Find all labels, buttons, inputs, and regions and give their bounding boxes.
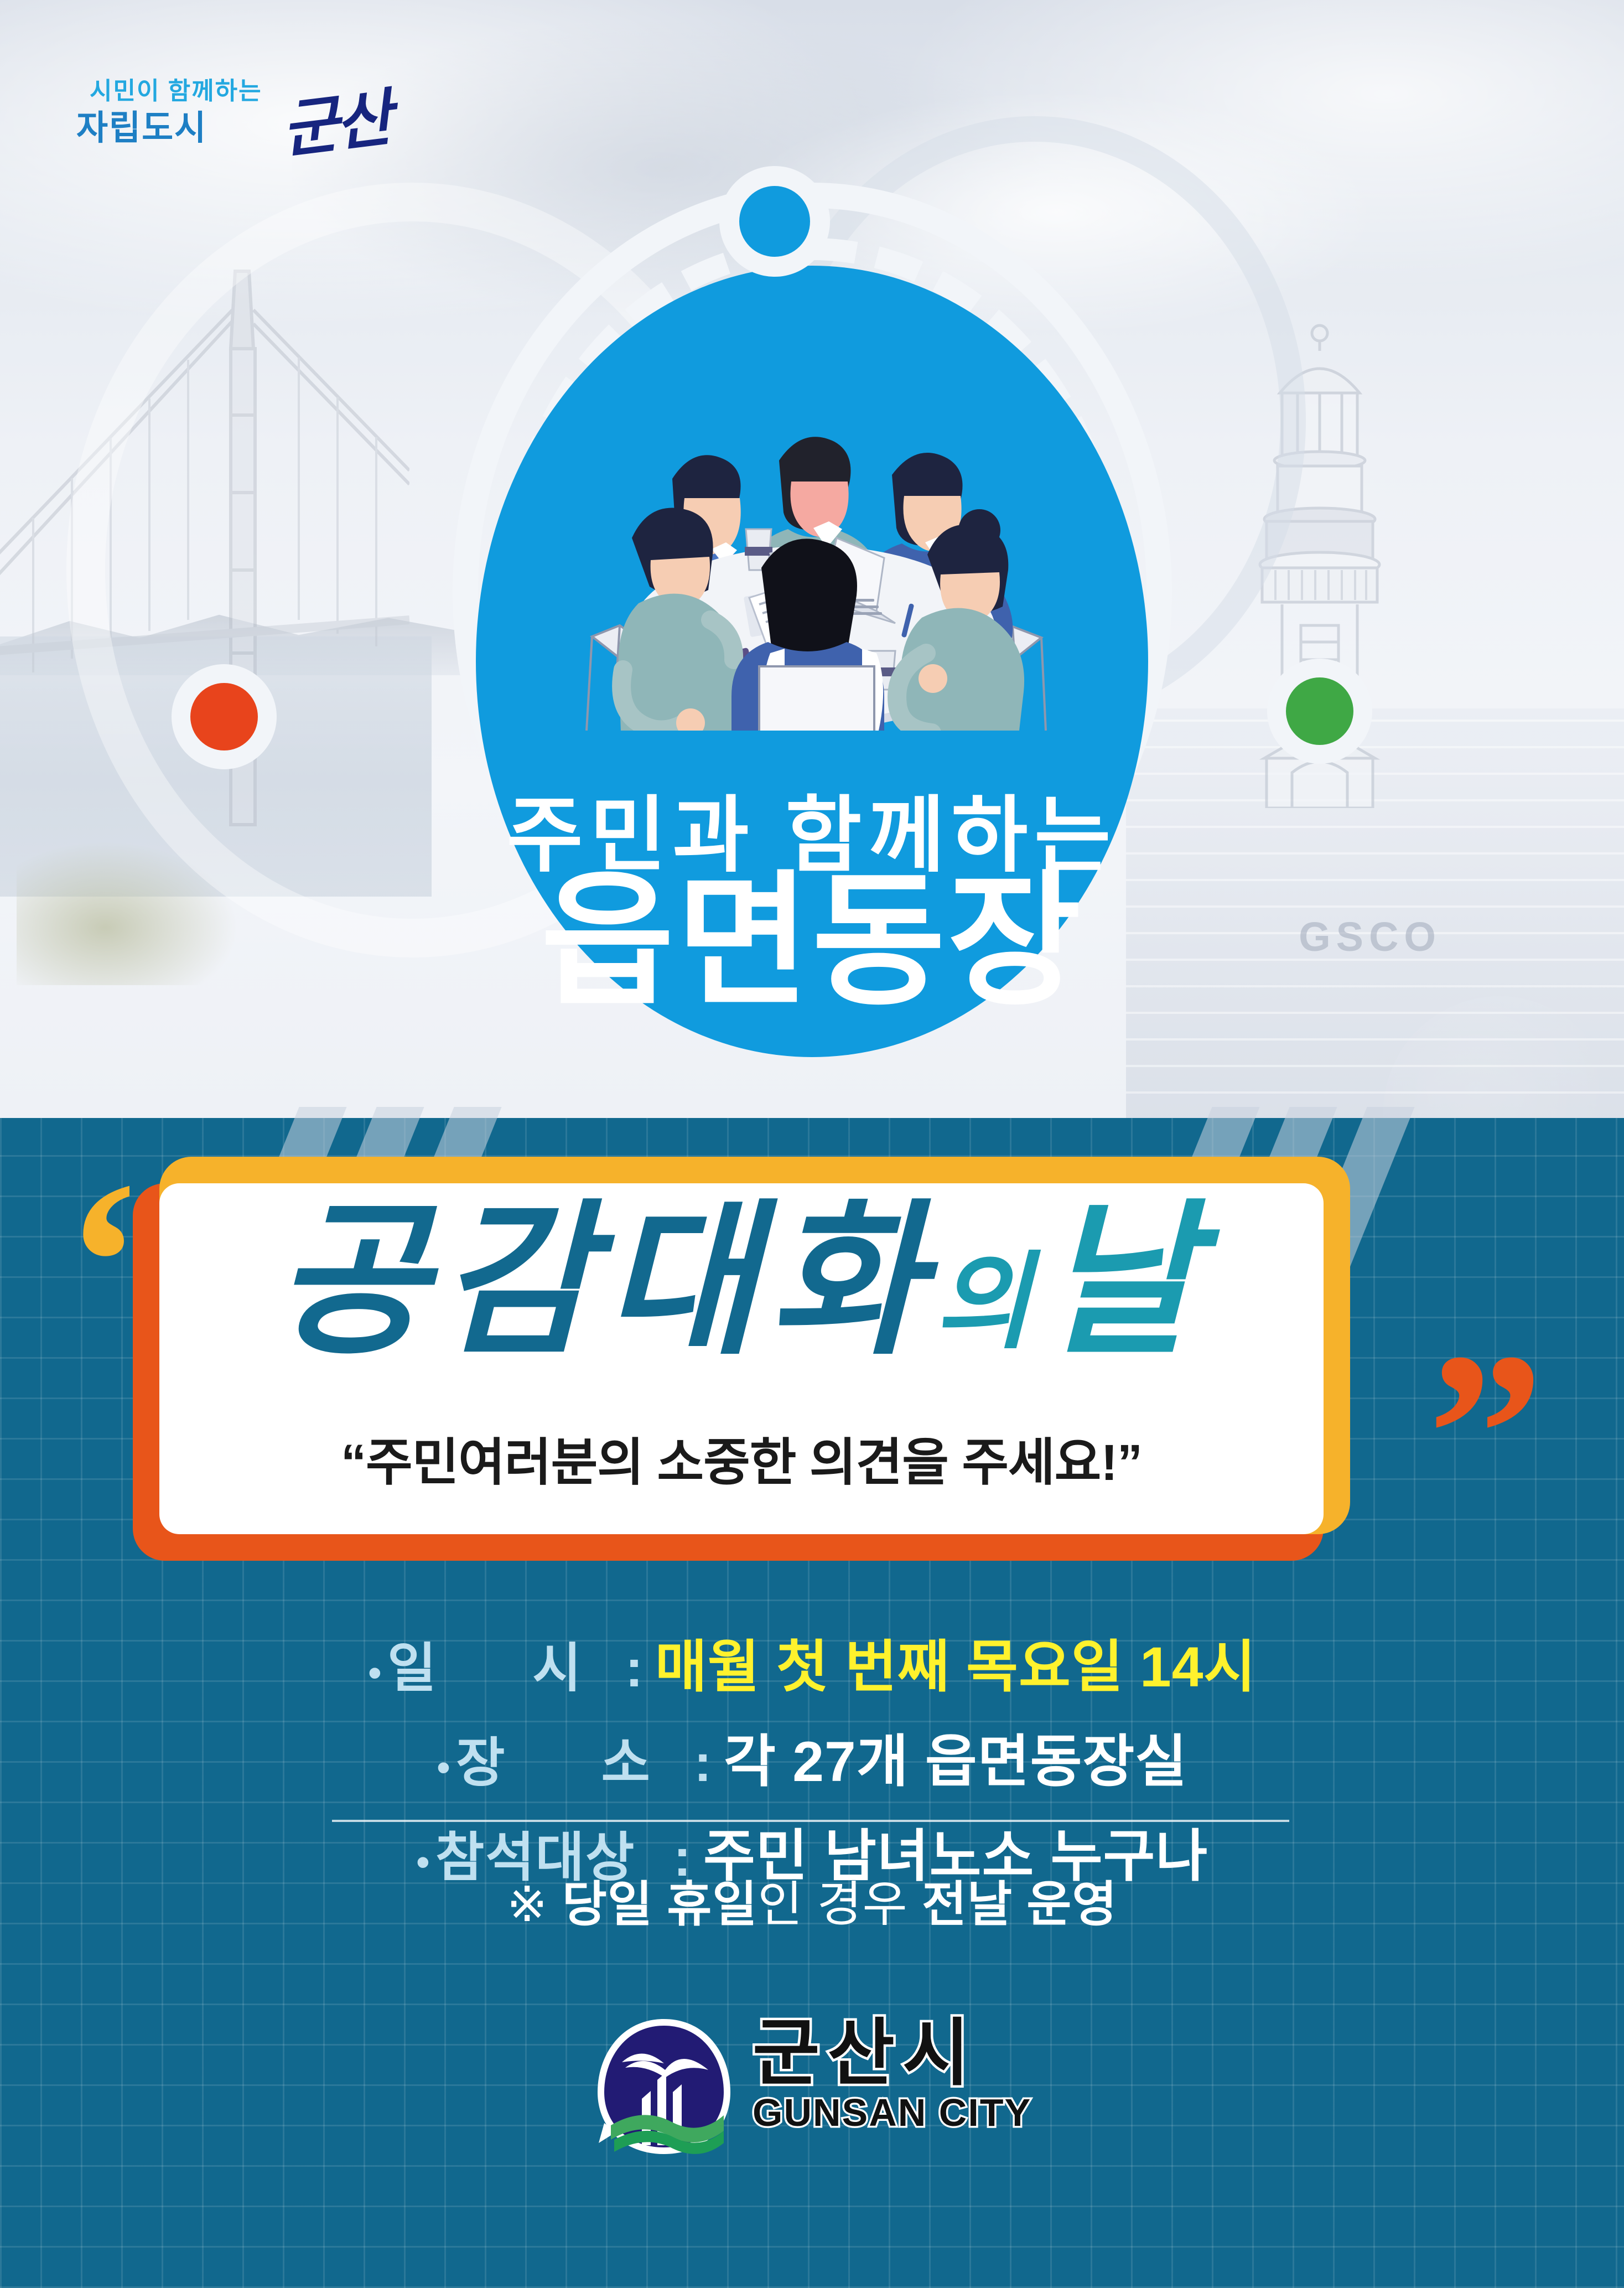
info-colon: : bbox=[625, 1638, 643, 1699]
footer-logo-ko: 군산시 bbox=[753, 2017, 1031, 2090]
info-value-location: 각 27개 읍면동장실 bbox=[724, 1716, 1187, 1798]
green-dot bbox=[1286, 677, 1353, 745]
note-bold-2: 전날 운영 bbox=[922, 1877, 1117, 1932]
brand-name-brush: 군산 bbox=[276, 68, 393, 170]
note-mark: ※ bbox=[507, 1877, 562, 1932]
footer-logo-en: GUNSAN CITY bbox=[753, 2093, 1031, 2132]
info-row: • 장 소 : 각 27개 읍면동장실 bbox=[0, 1716, 1624, 1798]
brand-subtitle: 자립도시 bbox=[76, 100, 207, 149]
bullet-icon: • bbox=[437, 1748, 450, 1788]
red-dot bbox=[190, 683, 258, 750]
calligraphy-title: 공감대화의날 bbox=[159, 1198, 1324, 1367]
bullet-icon: • bbox=[368, 1653, 382, 1693]
quote-box-inner: 공감대화의날 “주민여러분의 소중한 의견을 주세요!” bbox=[159, 1183, 1324, 1534]
calligraphy-part1: 공감대화 bbox=[275, 1190, 935, 1374]
city-brand-logo: 시민이 함께하는 자립도시 군산 bbox=[76, 71, 408, 165]
info-label: 일 시 bbox=[387, 1625, 625, 1702]
blue-dot bbox=[739, 186, 810, 257]
note-text: ※ 당일 휴일인 경우 전날 운영 bbox=[0, 1865, 1624, 1935]
note-middle: 인 경우 bbox=[757, 1877, 922, 1932]
calligraphy-part3: 날 bbox=[1043, 1190, 1208, 1374]
info-value-datetime: 매월 첫 번째 목요일 14시 bbox=[655, 1622, 1256, 1703]
round-table-meeting-illustration bbox=[553, 343, 1079, 731]
quote-box: 공감대화의날 “주민여러분의 소중한 의견을 주세요!” bbox=[133, 1157, 1350, 1561]
footer-logo: 군산시 GUNSAN CITY bbox=[592, 2015, 1035, 2164]
hero-title: 읍면동장 bbox=[0, 869, 1624, 1014]
footer-logo-text: 군산시 GUNSAN CITY bbox=[753, 2017, 1031, 2132]
quote-subtitle: “주민여러분의 소중한 의견을 주세요!” bbox=[159, 1421, 1324, 1495]
closing-quote-mark: ” bbox=[1428, 1350, 1544, 1518]
note-bold-1: 당일 휴일 bbox=[562, 1877, 757, 1932]
info-label: 장 소 bbox=[456, 1720, 694, 1797]
info-colon: : bbox=[694, 1733, 712, 1794]
poster-root: GSCO bbox=[0, 0, 1624, 2288]
info-list: • 일 시 : 매월 첫 번째 목요일 14시 • 장 소 : 각 27개 읍면… bbox=[0, 1622, 1624, 1906]
calligraphy-part2: 의 bbox=[935, 1245, 1044, 1362]
section-divider bbox=[332, 1820, 1289, 1822]
info-row: • 일 시 : 매월 첫 번째 목요일 14시 bbox=[0, 1622, 1624, 1703]
gunsan-city-emblem-icon bbox=[592, 2015, 736, 2158]
